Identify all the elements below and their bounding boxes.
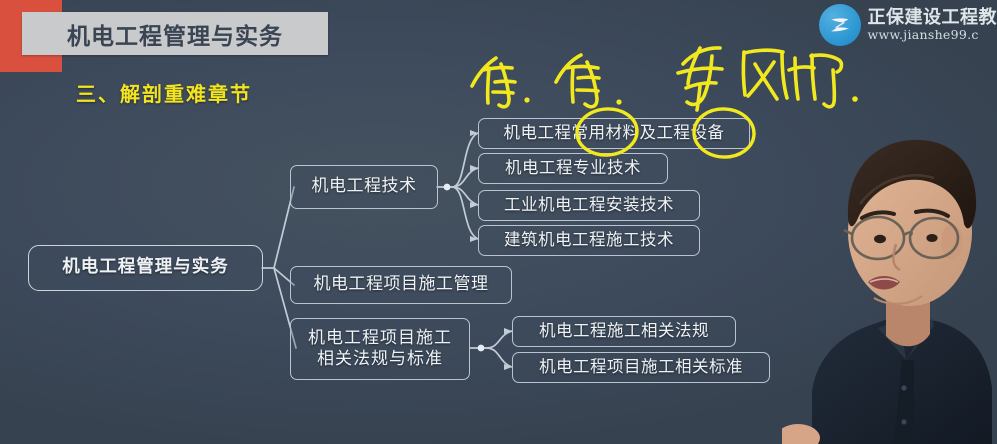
mindmap-branch-label-line1: 机电工程项目施工 [308, 328, 452, 349]
mindmap-root-label: 机电工程管理与实务 [62, 257, 229, 279]
mindmap-branch-node-technology[interactable]: 机电工程技术 [290, 165, 438, 209]
mindmap-leaf-label: 机电工程专业技术 [505, 158, 641, 179]
mindmap-leaf-construction-standards[interactable]: 机电工程项目施工相关标准 [512, 352, 770, 383]
mindmap-leaf-industrial-installation[interactable]: 工业机电工程安装技术 [478, 190, 700, 221]
mindmap-leaf-label: 机电工程施工相关法规 [539, 321, 709, 342]
mindmap-branch-node-regulations[interactable]: 机电工程项目施工 相关法规与标准 [290, 318, 470, 380]
mindmap-leaf-materials-equipment[interactable]: 机电工程常用材料及工程设备 [478, 118, 750, 149]
mindmap-leaf-label: 机电工程常用材料及工程设备 [504, 123, 725, 144]
mindmap-branch-label: 机电工程项目施工管理 [314, 274, 489, 295]
mindmap-leaf-label: 机电工程项目施工相关标准 [539, 357, 743, 378]
mindmap-root-node[interactable]: 机电工程管理与实务 [28, 245, 263, 291]
mindmap-leaf-construction-regulations[interactable]: 机电工程施工相关法规 [512, 316, 736, 347]
mindmap-branch-label: 机电工程技术 [312, 176, 417, 197]
mindmap-leaf-professional-technology[interactable]: 机电工程专业技术 [478, 153, 668, 184]
mindmap-leaf-label: 工业机电工程安装技术 [504, 195, 674, 216]
mindmap-leaf-building-construction[interactable]: 建筑机电工程施工技术 [478, 225, 700, 256]
presenter-video-overlay [782, 92, 997, 444]
mindmap-leaf-label: 建筑机电工程施工技术 [504, 230, 674, 251]
mindmap-branch-node-project-management[interactable]: 机电工程项目施工管理 [290, 266, 512, 304]
lecture-slide-screenshot: 机电工程管理与实务 三、解剖重难章节 正保建设工程教 www.jianshe99… [0, 0, 997, 444]
mindmap-branch-label-line2: 相关法规与标准 [317, 349, 443, 370]
